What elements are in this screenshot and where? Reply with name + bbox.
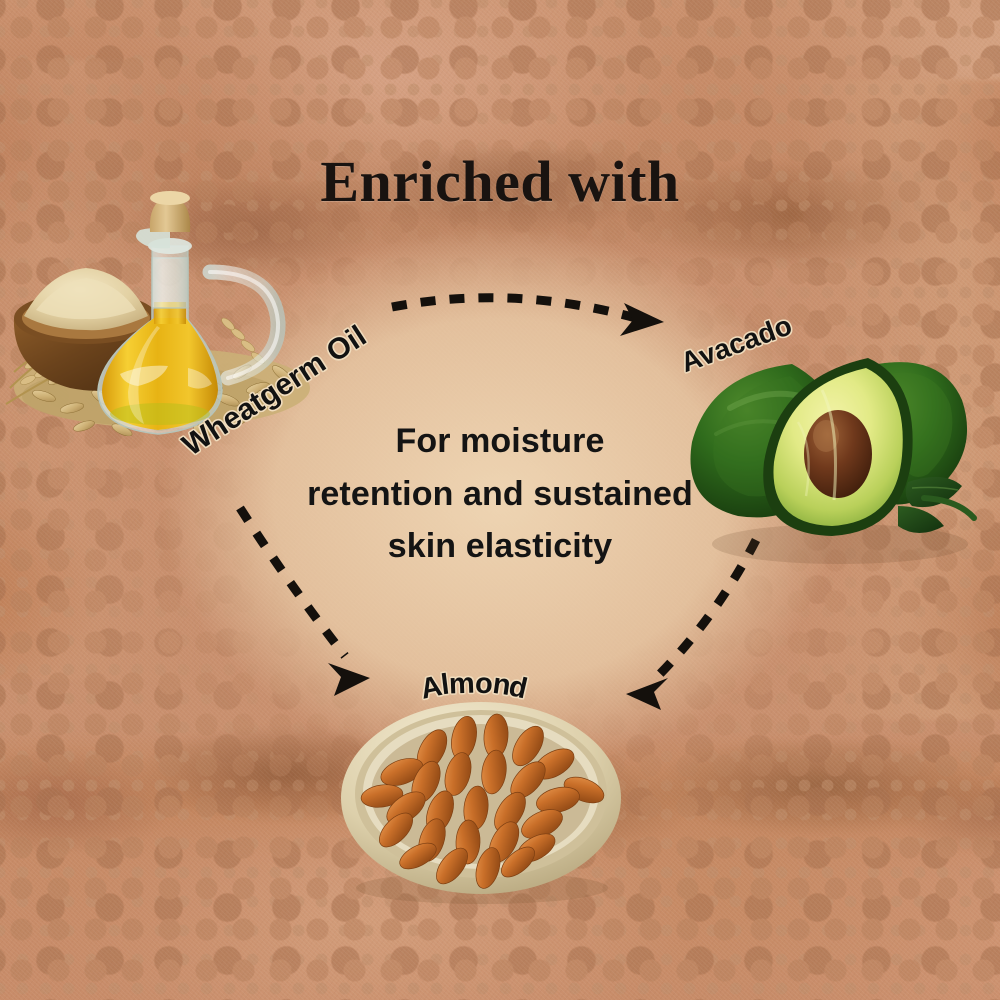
label-almond: Almond bbox=[420, 668, 528, 701]
poster-canvas: Enriched with For moisture retention and… bbox=[0, 0, 1000, 1000]
avocado-leaves bbox=[898, 477, 974, 533]
almond-letter-3: m bbox=[448, 668, 475, 702]
almond-bowl-image bbox=[336, 690, 626, 905]
